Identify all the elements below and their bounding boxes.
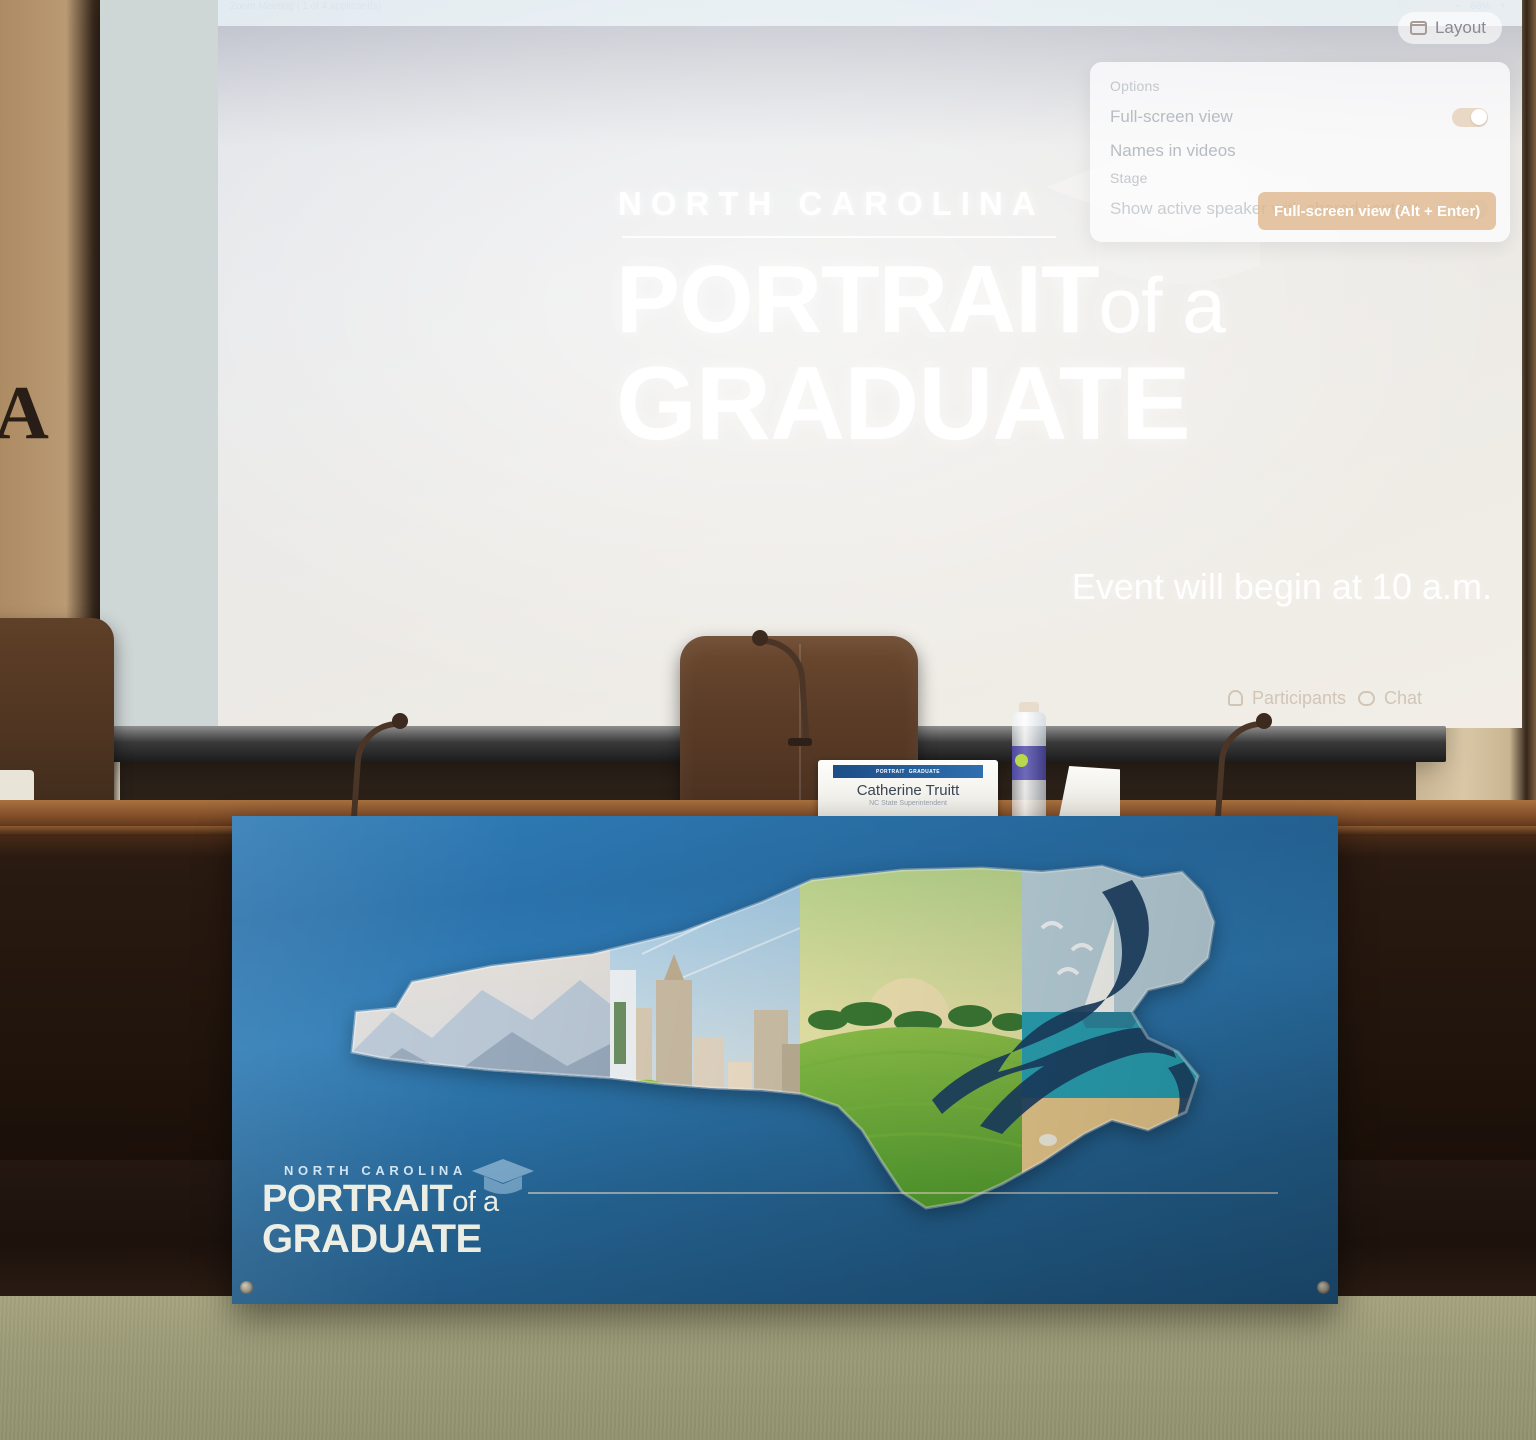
- slide-title-light: of a: [1099, 261, 1225, 349]
- layout-button[interactable]: Layout: [1398, 12, 1502, 44]
- full-screen-view-tooltip: Full-screen view (Alt + Enter): [1258, 192, 1496, 230]
- menu-item-names-in-videos[interactable]: Names in videos: [1090, 134, 1510, 168]
- placard-logo-right: GRADUATE: [909, 769, 940, 775]
- layout-dropdown-panel[interactable]: Options Full-screen view Names in videos…: [1090, 62, 1510, 242]
- slide-title-bold: PORTRAIT: [616, 246, 1099, 353]
- banner-grommet-bottom-right: [1317, 1281, 1330, 1294]
- room-scene: A T. Zoom Meeting | 1 of 4 applicant(s) …: [0, 0, 1536, 1440]
- banner-title-line2: GRADUATE: [262, 1219, 512, 1260]
- names-in-videos-label: Names in videos: [1110, 141, 1236, 161]
- banner-logo: NORTH CAROLINA PORTRAITof a GRADUATE: [262, 1163, 512, 1260]
- slide-eyebrow: NORTH CAROLINA: [618, 185, 1078, 223]
- bottle-label: [1012, 746, 1046, 780]
- menu-item-full-screen-view[interactable]: Full-screen view: [1090, 100, 1510, 134]
- banner-title-bold: PORTRAIT: [262, 1178, 452, 1220]
- projected-zoom-meeting: Zoom Meeting | 1 of 4 applicant(s) − 66%…: [218, 0, 1522, 728]
- banner-divider: [528, 1192, 1278, 1194]
- banner-grommet-bottom-left: [240, 1281, 253, 1294]
- options-section-header: Options: [1090, 76, 1510, 100]
- participants-button[interactable]: Participants: [1228, 688, 1346, 709]
- carpet-floor: [0, 1296, 1536, 1440]
- full-screen-view-toggle[interactable]: [1452, 108, 1488, 127]
- layout-grid-icon: [1410, 21, 1427, 35]
- placard-name: Catherine Truitt: [818, 782, 998, 799]
- chat-button[interactable]: Chat: [1358, 688, 1422, 709]
- left-wall-letter: A: [0, 370, 49, 457]
- slide-title-line1: PORTRAITof a: [616, 252, 1225, 348]
- full-screen-view-label: Full-screen view: [1110, 107, 1233, 127]
- slide-divider: [622, 236, 1056, 238]
- chat-label: Chat: [1384, 688, 1422, 709]
- layout-button-label: Layout: [1435, 18, 1486, 38]
- placard-role: NC State Superintendent: [818, 800, 998, 807]
- paper-tent-card: [1058, 766, 1120, 822]
- participants-label: Participants: [1252, 688, 1346, 709]
- chat-bubble-icon: [1358, 691, 1375, 706]
- water-bottle: [1008, 702, 1050, 824]
- slide-title-line2: GRADUATE: [616, 352, 1190, 456]
- name-placard: PORTRAIT GRADUATE Catherine Truitt NC St…: [818, 760, 998, 822]
- portrait-of-a-graduate-banner: NORTH CAROLINA PORTRAITof a GRADUATE: [232, 816, 1338, 1304]
- placard-logo: PORTRAIT GRADUATE: [833, 765, 983, 778]
- banner-graduation-cap-icon: [470, 1157, 536, 1199]
- stage-section-header: Stage: [1090, 168, 1510, 192]
- slide-footer-note: Event will begin at 10 a.m.: [1072, 566, 1492, 608]
- people-icon: [1228, 690, 1243, 706]
- placard-logo-left: PORTRAIT: [876, 769, 905, 775]
- microphone-right: [1212, 715, 1272, 825]
- microphone-center: [752, 632, 812, 742]
- microphone-left: [348, 715, 408, 825]
